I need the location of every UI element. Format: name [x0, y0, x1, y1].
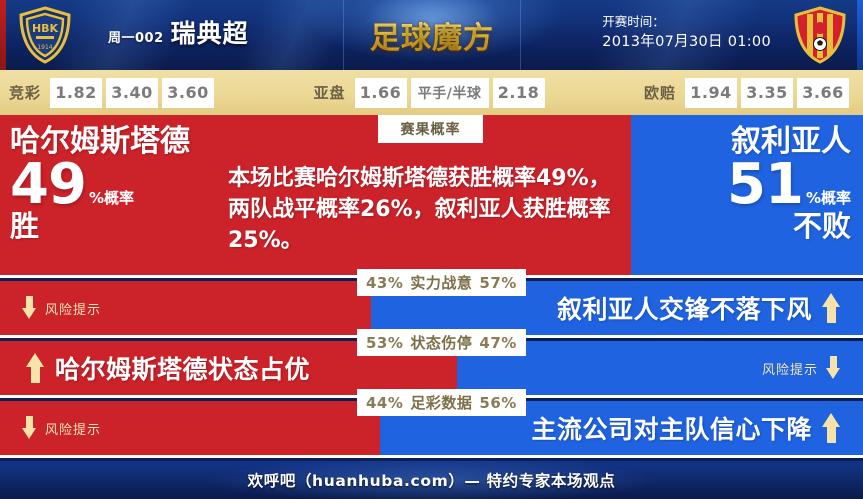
- match-league-label: 瑞典超: [171, 14, 249, 50]
- home-probability-value: 49 %概率: [10, 157, 225, 213]
- arrow-down-icon: [826, 356, 841, 380]
- risk-hint: 风险提示: [22, 296, 101, 320]
- odds-group-label: 竞彩: [0, 82, 50, 103]
- kickoff-value: 2013年07月30日 01:00: [602, 32, 771, 54]
- odds-value-cell[interactable]: 1.94: [685, 78, 737, 108]
- away-probability-panel: 叙利亚人 51 %概率 不败: [631, 115, 863, 278]
- odds-group-label: 欧赔: [635, 82, 685, 103]
- comparison-right-pct: 56%: [479, 394, 516, 412]
- comparison-metric-chip: 43% 实力战意 57%: [357, 269, 526, 296]
- comparison-metric-name: 状态伤停: [410, 332, 472, 353]
- comparison-verdict-label: 叙利亚人交锋不落下风: [557, 290, 812, 326]
- kickoff-time: 开赛时间： 2013年07月30日 01:00: [602, 13, 771, 54]
- result-probability-block: 哈尔姆斯塔德 49 %概率 胜 本场比赛哈尔姆斯塔德获胜概率49%，两队战平概率…: [0, 115, 863, 278]
- match-info: 周一002 瑞典超: [108, 14, 249, 50]
- footer-bar: 欢呼吧（huanhuba.com）— 特约专家本场观点: [0, 461, 863, 499]
- odds-group-jingcai: 竞彩 1.82 3.40 3.60: [0, 78, 218, 108]
- odds-value-cell[interactable]: 1.82: [50, 78, 102, 108]
- comparison-left-pct: 43%: [366, 274, 403, 292]
- away-probability-number: 51: [727, 157, 803, 213]
- odds-value-cell[interactable]: 3.35: [741, 78, 793, 108]
- match-round-label: 周一002: [108, 27, 164, 46]
- home-team-crest-icon: HBK 1914: [16, 6, 74, 64]
- home-probability-number: 49: [10, 157, 86, 213]
- match-preview-infographic: HBK 1914 周一002 瑞典超 足球魔方 开赛时间： 2013年07月30…: [0, 0, 863, 499]
- risk-hint: 风险提示: [762, 356, 841, 380]
- brand-logo-text: 足球魔方: [370, 13, 494, 57]
- away-team-crest-icon: [791, 6, 849, 64]
- comparison-right-pct: 47%: [479, 334, 516, 352]
- svg-text:1914: 1914: [37, 44, 52, 51]
- arrow-down-icon: [22, 416, 37, 440]
- odds-group-label: 亚盘: [305, 82, 355, 103]
- comparison-verdict: 叙利亚人交锋不落下风: [557, 290, 841, 326]
- comparison-verdict: 主流公司对主队信心下降: [531, 410, 841, 446]
- comparison-metric-chip: 44% 足彩数据 56%: [357, 389, 526, 416]
- footer-credit-text: 欢呼吧（huanhuba.com）— 特约专家本场观点: [248, 469, 616, 491]
- odds-value-cell[interactable]: 3.60: [162, 78, 214, 108]
- comparison-metric-chip: 53% 状态伤停 47%: [357, 329, 526, 356]
- odds-value-cell[interactable]: 3.66: [797, 78, 849, 108]
- away-probability-summary: 叙利亚人 51 %概率 不败: [641, 125, 851, 242]
- comparison-left-bar: 风险提示: [0, 281, 371, 335]
- odds-group-yapan: 亚盘 1.66 平手/半球 2.18: [305, 78, 549, 108]
- comparison-metric-name: 足彩数据: [410, 392, 472, 413]
- odds-bar: 竞彩 1.82 3.40 3.60 亚盘 1.66 平手/半球 2.18 欧赔 …: [0, 70, 863, 115]
- comparison-verdict-label: 主流公司对主队信心下降: [531, 410, 812, 446]
- arrow-up-icon: [822, 293, 841, 323]
- comparison-row: 风险提示 主流公司对主队信心下降 44% 足彩数据 56%: [0, 401, 863, 458]
- brand-logo: 足球魔方: [343, 0, 521, 70]
- comparison-left-pct: 44%: [366, 394, 403, 412]
- svg-text:HBK: HBK: [32, 22, 59, 35]
- comparison-left-bar: 风险提示: [0, 401, 380, 455]
- arrow-up-icon: [822, 413, 841, 443]
- comparison-left-pct: 53%: [366, 334, 403, 352]
- odds-value-cell[interactable]: 2.18: [493, 78, 545, 108]
- probability-summary-text: 本场比赛哈尔姆斯塔德获胜概率49%，两队战平概率26%，叙利亚人获胜概率25%。: [228, 163, 620, 257]
- arrow-down-icon: [22, 296, 37, 320]
- risk-hint-label: 风险提示: [762, 359, 818, 378]
- home-probability-panel: 哈尔姆斯塔德 49 %概率 胜 本场比赛哈尔姆斯塔德获胜概率49%，两队战平概率…: [0, 115, 631, 278]
- away-probability-suffix: %概率: [806, 187, 851, 208]
- kickoff-label: 开赛时间：: [602, 13, 771, 32]
- home-probability-suffix: %概率: [89, 187, 134, 208]
- header-right-blue-accent: [857, 0, 863, 70]
- comparison-right-pct: 57%: [479, 274, 516, 292]
- away-probability-value: 51 %概率: [641, 157, 851, 213]
- home-probability-summary: 哈尔姆斯塔德 49 %概率 胜: [10, 125, 225, 242]
- arrow-up-icon: [26, 353, 45, 383]
- risk-hint: 风险提示: [22, 416, 101, 440]
- risk-hint-label: 风险提示: [45, 299, 101, 318]
- comparison-metric-name: 实力战意: [410, 272, 472, 293]
- comparison-verdict: 哈尔姆斯塔德状态占优: [26, 350, 310, 386]
- odds-group-oupei: 欧赔 1.94 3.35 3.66: [635, 78, 853, 108]
- odds-handicap-cell[interactable]: 平手/半球: [411, 78, 489, 108]
- result-probability-tag: 赛果概率: [378, 115, 483, 143]
- odds-value-cell[interactable]: 3.40: [106, 78, 158, 108]
- risk-hint-label: 风险提示: [45, 419, 101, 438]
- odds-value-cell[interactable]: 1.66: [355, 78, 407, 108]
- header-bar: HBK 1914 周一002 瑞典超 足球魔方 开赛时间： 2013年07月30…: [0, 0, 863, 70]
- comparison-verdict-label: 哈尔姆斯塔德状态占优: [55, 350, 310, 386]
- header-left-red-accent: [0, 0, 6, 70]
